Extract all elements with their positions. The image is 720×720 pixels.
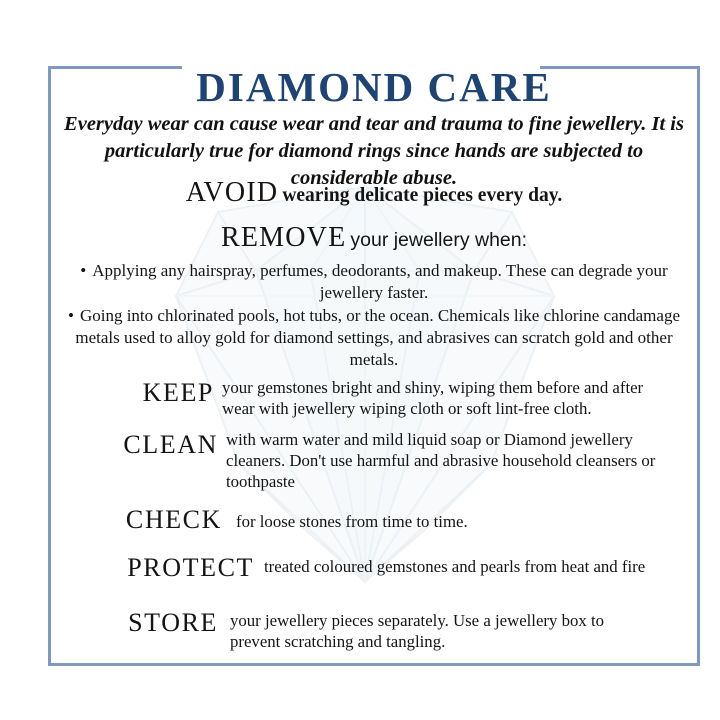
bullet-marker-icon: • (80, 261, 92, 280)
diamond-care-poster: DIAMOND CARE Everyday wear can cause wea… (0, 0, 720, 720)
section-check-text: for loose stones from time to time. (222, 505, 656, 533)
keyword-clean: CLEAN (100, 430, 218, 458)
keyword-check: CHECK (100, 505, 222, 533)
page-title: DIAMOND CARE (48, 67, 700, 108)
bullet-text: Going into chlorinated pools, hot tubs, … (75, 306, 680, 369)
section-store-text: your jewellery pieces separately. Use a … (218, 608, 656, 653)
keyword-avoid: AVOID (186, 177, 279, 208)
section-protect-text: treated coloured gemstones and pearls fr… (254, 553, 656, 578)
section-protect: PROTECT treated coloured gemstones and p… (100, 553, 656, 581)
section-store: STORE your jewellery pieces separately. … (100, 608, 656, 653)
section-keep-text: your gemstones bright and shiny, wiping … (214, 378, 652, 420)
section-keep: KEEP your gemstones bright and shiny, wi… (110, 378, 652, 420)
list-item: •Applying any hairspray, perfumes, deodo… (62, 260, 686, 304)
keyword-protect: PROTECT (100, 553, 254, 581)
list-item: •Going into chlorinated pools, hot tubs,… (62, 305, 686, 370)
section-remove-text: your jewellery when: (350, 229, 527, 251)
section-check: CHECK for loose stones from time to time… (100, 505, 656, 533)
section-remove: REMOVE your jewellery when: (48, 222, 700, 254)
bullet-marker-icon: • (68, 306, 80, 325)
section-avoid: AVOID wearing delicate pieces every day. (48, 177, 700, 209)
keyword-store: STORE (100, 608, 218, 636)
keyword-keep: KEEP (110, 378, 214, 406)
section-avoid-text: wearing delicate pieces every day. (282, 185, 562, 206)
section-clean-text: with warm water and mild liquid soap or … (218, 430, 656, 492)
keyword-remove: REMOVE (221, 222, 346, 253)
poster-content: DIAMOND CARE Everyday wear can cause wea… (48, 0, 700, 720)
section-clean: CLEAN with warm water and mild liquid so… (100, 430, 656, 492)
bullet-text: Applying any hairspray, perfumes, deodor… (92, 261, 667, 302)
